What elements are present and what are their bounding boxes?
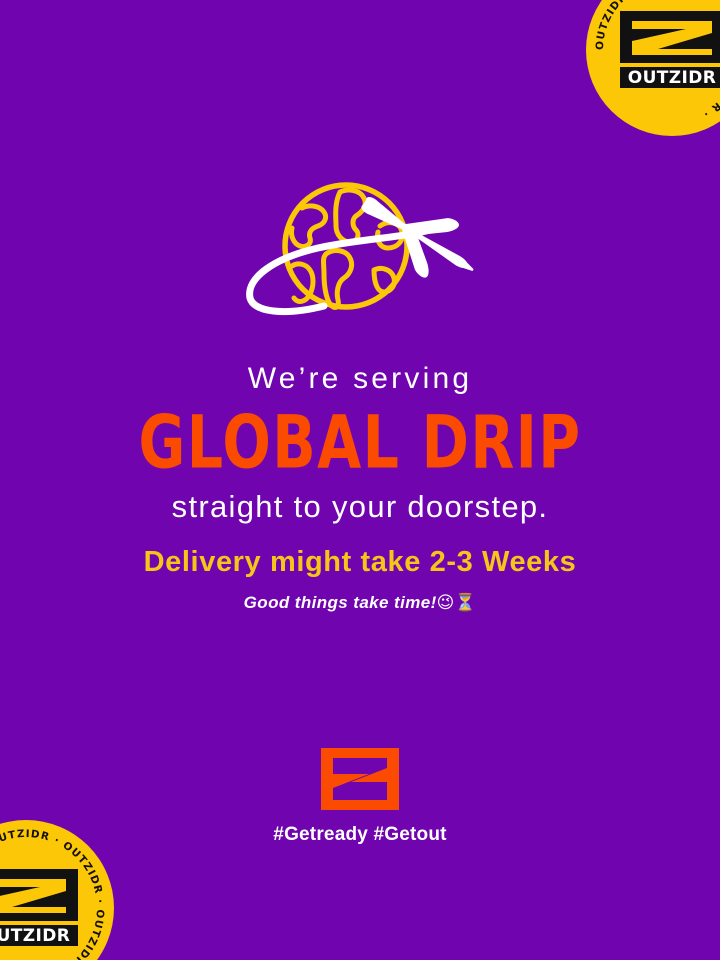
delivery-notice: Delivery might take 2-3 Weeks Good thing… <box>0 546 720 614</box>
reassurance-text: Good things take time! <box>244 593 437 612</box>
eyebrow-text: We’re serving <box>0 362 720 396</box>
reassurance-emoji: 😉⏳ <box>437 593 477 613</box>
outzidr-z-logo <box>321 748 399 810</box>
badge-core-logo-top-right: OUTZIDR <box>618 9 720 91</box>
delivery-reassurance: Good things take time!😉⏳ <box>0 593 720 613</box>
poster-canvas: OUTZIDR · OUTZIDR · OUTZIDR · OUTZIDR · … <box>0 0 720 960</box>
badge-core-logo-bottom-left: OUTZIDR <box>0 867 80 949</box>
globe-with-airplane-icon <box>240 174 480 342</box>
footer-lockup: #Getready #Getout <box>0 748 720 846</box>
hashtags-text: #Getready #Getout <box>0 824 720 846</box>
delivery-time-text: Delivery might take 2-3 Weeks <box>0 546 720 579</box>
badge-wordmark: OUTZIDR <box>0 926 70 946</box>
badge-wordmark: OUTZIDR <box>628 68 717 88</box>
page-title: GLOBAL DRIP <box>29 406 691 479</box>
subline-text: straight to your doorstep. <box>0 490 720 524</box>
badge-top-right: OUTZIDR · OUTZIDR · OUTZIDR · OUTZIDR · … <box>586 0 720 136</box>
headline-block: We’re serving GLOBAL DRIP straight to yo… <box>0 362 720 524</box>
